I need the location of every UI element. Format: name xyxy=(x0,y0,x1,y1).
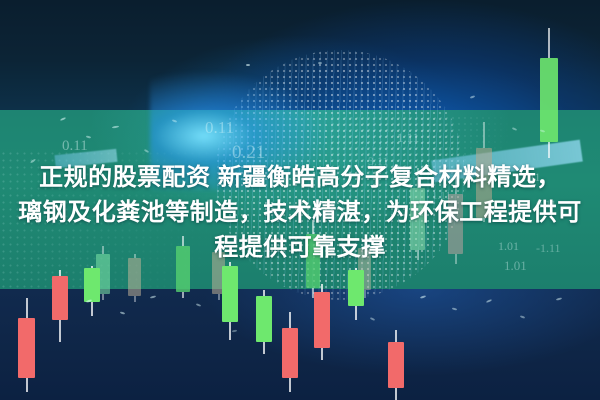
candlestick-body xyxy=(388,342,404,388)
candlestick xyxy=(348,268,364,320)
headline-line-2: 璃钢及化粪池等制造，技术精湛，为环保工程提供可 xyxy=(0,195,600,230)
candlestick xyxy=(18,298,35,392)
candlestick xyxy=(222,262,238,340)
candlestick-body xyxy=(348,270,364,306)
candlestick-body xyxy=(84,268,100,302)
candlestick-body xyxy=(540,58,558,142)
candlestick-body xyxy=(222,266,238,322)
candlestick xyxy=(388,330,404,400)
candlestick-body xyxy=(52,276,68,320)
candlestick xyxy=(282,312,298,392)
banner-headline: 正规的股票配资 新疆衡皓高分子复合材料精选， 璃钢及化粪池等制造，技术精湛，为环… xyxy=(0,160,600,265)
candlestick xyxy=(84,266,100,316)
candlestick-body xyxy=(282,328,298,378)
candlestick-body xyxy=(314,292,330,348)
candlestick-body xyxy=(18,318,35,378)
headline-line-3: 程提供可靠支撑 xyxy=(0,230,600,265)
candlestick xyxy=(256,290,272,354)
candlestick xyxy=(314,284,330,360)
stock-promo-banner: 0.110.110.211.113.111.110.111.01-1.111.0… xyxy=(0,0,600,400)
candlestick-body xyxy=(256,296,272,342)
candlestick xyxy=(52,270,68,342)
candlestick xyxy=(540,28,558,158)
headline-line-1: 正规的股票配资 新疆衡皓高分子复合材料精选， xyxy=(0,160,600,195)
